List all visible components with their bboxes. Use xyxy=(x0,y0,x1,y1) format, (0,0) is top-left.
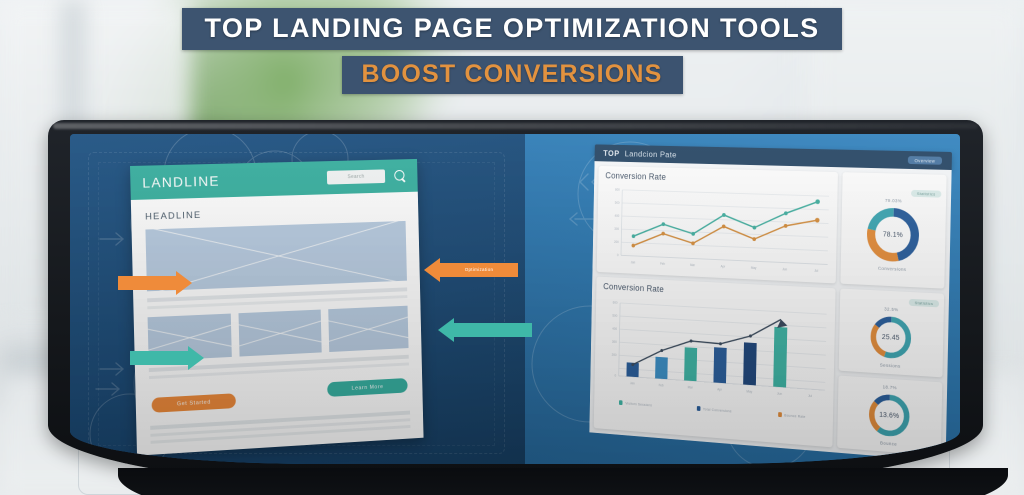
dashboard-title-prefix: TOP xyxy=(603,148,620,158)
legend-label: Bounce Rate xyxy=(784,413,805,418)
legend-item: Total Conversions xyxy=(697,406,732,413)
legend-swatch xyxy=(778,412,782,417)
secondary-cta-button[interactable]: Learn More xyxy=(327,378,408,397)
svg-text:500: 500 xyxy=(615,201,620,205)
donut-caption-bottom: Conversions xyxy=(878,266,906,272)
status-badge: Statistics xyxy=(909,299,939,308)
svg-text:Apr: Apr xyxy=(721,264,726,268)
svg-text:Apr: Apr xyxy=(717,387,723,391)
left-top-arrow xyxy=(118,275,192,291)
wireframe-body: HEADLINE Get Started Learn More xyxy=(131,192,423,445)
donut-side-column-1: Statistics 79.03% 78.1% xyxy=(840,172,946,288)
svg-text:600: 600 xyxy=(613,301,618,305)
svg-text:0: 0 xyxy=(617,253,619,257)
main-title-banner: TOP LANDING PAGE OPTIMIZATION TOOLS xyxy=(182,8,841,50)
poster-stage: TOP LANDING PAGE OPTIMIZATION TOOLS BOOS… xyxy=(0,0,1024,495)
donut-side-column-2: Statistics 32.5% 25.45 xyxy=(837,289,944,457)
svg-text:Jul: Jul xyxy=(808,394,812,398)
title-block: TOP LANDING PAGE OPTIMIZATION TOOLS BOOS… xyxy=(0,8,1024,94)
donut-card-2: Statistics 32.5% 25.45 xyxy=(839,289,945,378)
dashboard-row-2: Conversion Rate xyxy=(594,277,944,457)
main-title-text: TOP LANDING PAGE OPTIMIZATION TOOLS xyxy=(204,15,819,42)
legend-swatch xyxy=(697,406,701,411)
wireframe-logo: LANDLINE xyxy=(142,173,220,191)
donut-caption-top: 18.7% xyxy=(883,384,897,390)
svg-text:May: May xyxy=(746,389,752,393)
svg-text:Feb: Feb xyxy=(658,383,663,387)
donut-chart-1: 78.1% xyxy=(864,204,923,265)
dashboard-body: Conversion Rate xyxy=(589,161,951,461)
search-input[interactable]: Search xyxy=(327,169,385,184)
donut-caption-top: 32.5% xyxy=(884,306,898,312)
search-icon[interactable] xyxy=(394,169,406,182)
svg-text:300: 300 xyxy=(614,227,619,231)
donut-card-1: Statistics 79.03% 78.1% xyxy=(840,172,946,288)
legend-label: Total Conversions xyxy=(703,407,732,413)
laptop-screen: LANDLINE Search HEADLINE xyxy=(70,134,960,464)
donut-caption-bottom: Sessions xyxy=(880,362,901,368)
svg-text:Mar: Mar xyxy=(688,385,694,389)
legend-item: Visitors Sessions xyxy=(619,400,652,407)
subtitle-text: BOOST CONVERSIONS xyxy=(362,62,663,87)
left-bottom-arrow xyxy=(130,350,204,366)
primary-cta-button[interactable]: Get Started xyxy=(152,393,236,413)
svg-text:Jan: Jan xyxy=(631,260,636,264)
bar-chart-card: Conversion Rate xyxy=(594,277,836,448)
overview-button[interactable]: Overview xyxy=(908,156,942,165)
analytics-dashboard: TOP Landcion Pate Overview Conversion Ra… xyxy=(590,144,952,451)
svg-text:Feb: Feb xyxy=(660,262,665,266)
svg-text:200: 200 xyxy=(612,353,617,357)
svg-text:May: May xyxy=(751,266,757,270)
svg-text:Jul: Jul xyxy=(814,269,818,273)
legend-item: Bounce Rate xyxy=(778,412,806,419)
right-top-arrow: Optimization xyxy=(424,262,518,278)
dashboard-row-1: Conversion Rate xyxy=(597,166,947,289)
subtitle-banner: BOOST CONVERSIONS xyxy=(342,56,683,94)
line-chart: 600500 400300 2000 JanFeb MarApr MayJun … xyxy=(597,182,835,279)
donut-value: 78.1% xyxy=(883,231,903,239)
search-placeholder: Search xyxy=(348,174,365,180)
svg-text:400: 400 xyxy=(612,327,617,331)
legend-swatch xyxy=(619,400,623,405)
dashboard-title: Landcion Pate xyxy=(625,149,677,160)
svg-text:300: 300 xyxy=(612,340,617,344)
donut-chart-2: 25.45 xyxy=(867,313,914,363)
donut-value: 13.6% xyxy=(879,411,899,419)
svg-text:0: 0 xyxy=(614,374,616,378)
donut-chart-3: 13.6% xyxy=(866,390,913,441)
donut-value: 25.45 xyxy=(882,334,900,342)
bar-chart: 600500 400300 2000 JanFeb MarApr MayJun … xyxy=(594,292,832,406)
svg-text:Mar: Mar xyxy=(690,263,695,267)
svg-text:Jan: Jan xyxy=(630,381,635,385)
landing-page-wireframe: LANDLINE Search HEADLINE xyxy=(130,159,424,456)
donut-caption-bottom: Bounce xyxy=(880,440,897,446)
svg-text:500: 500 xyxy=(612,314,617,318)
laptop-device: LANDLINE Search HEADLINE xyxy=(48,120,983,495)
svg-text:400: 400 xyxy=(615,214,620,218)
svg-text:Jun: Jun xyxy=(782,267,787,271)
legend-label: Visitors Sessions xyxy=(625,401,652,407)
status-badge: Statistics xyxy=(911,190,941,198)
bezel-highlight xyxy=(53,123,978,129)
svg-text:600: 600 xyxy=(615,188,620,192)
svg-text:Jun: Jun xyxy=(777,392,782,396)
right-bottom-arrow xyxy=(438,322,532,338)
donut-caption-top: 79.03% xyxy=(885,198,902,203)
wireframe-headline: HEADLINE xyxy=(145,204,405,223)
right-top-arrow-label: Optimization xyxy=(440,267,518,272)
thumbnail-placeholder xyxy=(239,310,322,357)
line-chart-card: Conversion Rate xyxy=(597,166,838,284)
donut-card-3: 18.7% 13.6% xyxy=(837,376,942,457)
thumbnail-placeholder xyxy=(328,306,409,352)
laptop-base xyxy=(118,468,1008,495)
svg-text:200: 200 xyxy=(614,240,619,244)
